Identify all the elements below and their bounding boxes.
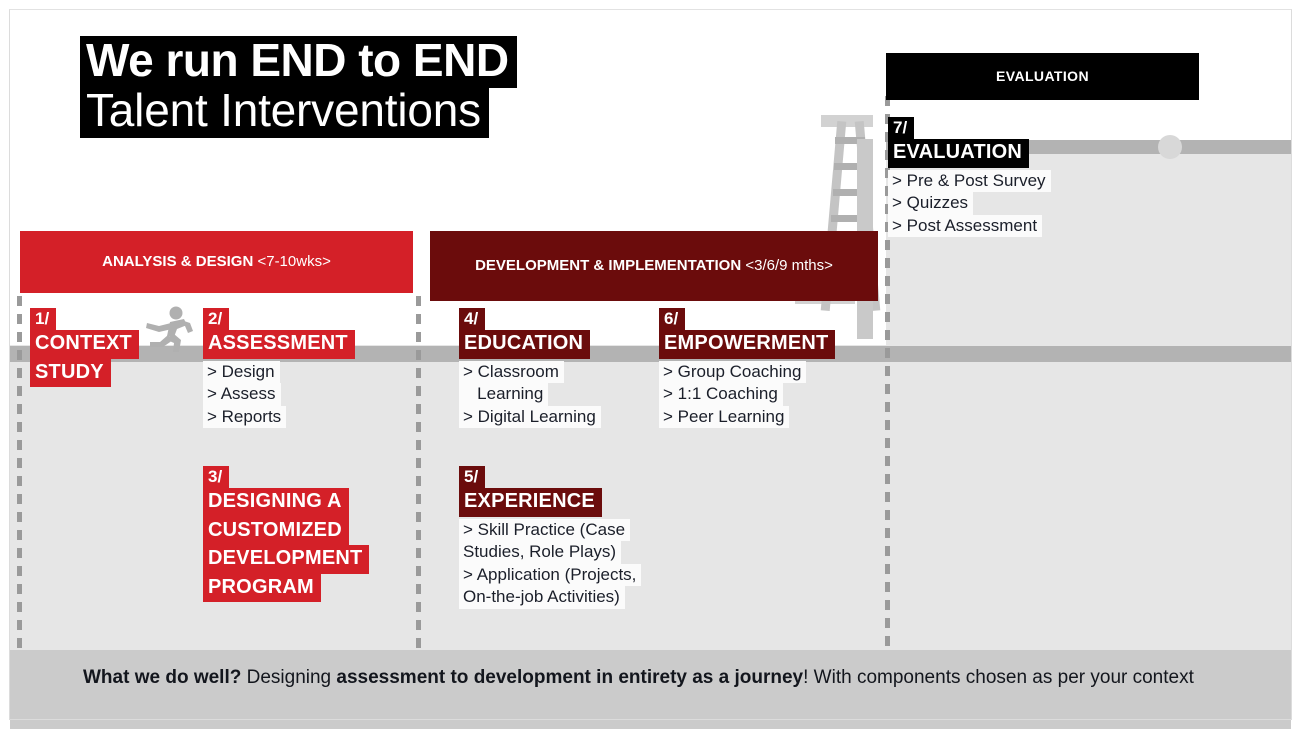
- step-2-number: 2/: [203, 308, 229, 330]
- list-item: > Post Assessment: [888, 215, 1042, 238]
- page-title-line1: We run END to END: [80, 36, 517, 88]
- list-item: > Reports: [203, 406, 286, 429]
- step-4-title-line-1: EDUCATION: [459, 330, 590, 359]
- step-4-bullets: > Classroom Learning > Digital Learning: [459, 361, 601, 429]
- phase-banner-development-label: DEVELOPMENT & IMPLEMENTATION: [475, 257, 741, 274]
- step-1-title-line-1: CONTEXT: [30, 330, 139, 359]
- footer-summary: What we do well? Designing assessment to…: [83, 663, 1253, 694]
- step-3-title-line-1: DESIGNING A: [203, 488, 349, 517]
- step-6-number: 6/: [659, 308, 685, 330]
- step-3-title-line-3: DEVELOPMENT: [203, 545, 369, 574]
- step-4-title: EDUCATION: [459, 330, 601, 359]
- step-5-title-line-1: EXPERIENCE: [459, 488, 602, 517]
- slide-canvas: We run END to END Talent Interventions A…: [0, 0, 1301, 729]
- phase-banner-analysis-label: ANALYSIS & DESIGN: [102, 253, 253, 270]
- phase-banner-evaluation-label: EVALUATION: [996, 67, 1089, 85]
- step-7-title: EVALUATION: [888, 139, 1051, 168]
- step-2-title-line-1: ASSESSMENT: [203, 330, 355, 359]
- step-3-number: 3/: [203, 466, 229, 488]
- step-6-title-line-1: EMPOWERMENT: [659, 330, 835, 359]
- step-2[interactable]: 2/ ASSESSMENT > Design > Assess > Report…: [203, 308, 355, 444]
- phase-banner-development: DEVELOPMENT & IMPLEMENTATION <3/6/9 mths…: [430, 231, 878, 301]
- step-7-number: 7/: [888, 117, 914, 139]
- footer-normal-1: Designing: [241, 667, 336, 688]
- footer-normal-2: ! With components chosen as per your con…: [803, 667, 1194, 688]
- step-6-title: EMPOWERMENT: [659, 330, 835, 359]
- phase-banner-development-duration: <3/6/9 mths>: [741, 257, 833, 274]
- step-1-title: CONTEXT STUDY: [30, 330, 139, 387]
- step-2-bullets: > Design > Assess > Reports: [203, 361, 355, 429]
- divider-dashed-left: [17, 296, 22, 648]
- list-item: > Application (Projects,: [459, 564, 641, 587]
- list-item: Studies, Role Plays): [459, 541, 621, 564]
- page-title-line2: Talent Interventions: [80, 86, 489, 138]
- step-6-bullets: > Group Coaching > 1:1 Coaching > Peer L…: [659, 361, 835, 429]
- list-item: > Group Coaching: [659, 361, 806, 384]
- step-1-number: 1/: [30, 308, 56, 330]
- step-5-bullets: > Skill Practice (Case Studies, Role Pla…: [459, 519, 641, 609]
- page-title: We run END to END Talent Interventions: [80, 36, 517, 138]
- step-4-number: 4/: [459, 308, 485, 330]
- step-1-title-line-2: STUDY: [30, 359, 111, 388]
- phase-banner-evaluation: EVALUATION: [886, 53, 1199, 100]
- list-item: > Classroom: [459, 361, 564, 384]
- step-7[interactable]: 7/ EVALUATION > Pre & Post Survey > Quiz…: [888, 117, 1051, 253]
- timeline-dot: [1158, 135, 1182, 159]
- list-item: > Digital Learning: [459, 406, 601, 429]
- step-3-title-line-4: PROGRAM: [203, 574, 321, 603]
- step-7-bullets: > Pre & Post Survey > Quizzes > Post Ass…: [888, 170, 1051, 238]
- runner-icon: [140, 306, 196, 354]
- step-3-title-line-2: CUSTOMIZED: [203, 517, 349, 546]
- list-item: > 1:1 Coaching: [659, 383, 783, 406]
- list-item: > Pre & Post Survey: [888, 170, 1051, 193]
- list-item: Learning: [459, 383, 548, 406]
- footer-bold-2: assessment to development in entirety as…: [336, 667, 803, 688]
- step-6[interactable]: 6/ EMPOWERMENT > Group Coaching > 1:1 Co…: [659, 308, 835, 444]
- step-3-title: DESIGNING A CUSTOMIZED DEVELOPMENT PROGR…: [203, 488, 369, 602]
- phase-banner-analysis-duration: <7-10wks>: [253, 253, 331, 270]
- step-5-number: 5/: [459, 466, 485, 488]
- list-item: > Assess: [203, 383, 281, 406]
- step-7-title-line-1: EVALUATION: [888, 139, 1029, 168]
- step-3[interactable]: 3/ DESIGNING A CUSTOMIZED DEVELOPMENT PR…: [203, 466, 369, 602]
- step-1[interactable]: 1/ CONTEXT STUDY: [30, 308, 139, 387]
- step-5-title: EXPERIENCE: [459, 488, 641, 517]
- list-item: > Peer Learning: [659, 406, 789, 429]
- step-2-title: ASSESSMENT: [203, 330, 355, 359]
- list-item: On-the-job Activities): [459, 586, 625, 609]
- list-item: > Quizzes: [888, 192, 973, 215]
- divider-dashed-mid: [416, 296, 421, 648]
- phase-banner-analysis: ANALYSIS & DESIGN <7-10wks>: [20, 231, 413, 293]
- step-4[interactable]: 4/ EDUCATION > Classroom Learning > Digi…: [459, 308, 601, 444]
- list-item: > Design: [203, 361, 280, 384]
- footer-bold-1: What we do well?: [83, 667, 241, 688]
- list-item: > Skill Practice (Case: [459, 519, 630, 542]
- step-5[interactable]: 5/ EXPERIENCE > Skill Practice (Case Stu…: [459, 466, 641, 625]
